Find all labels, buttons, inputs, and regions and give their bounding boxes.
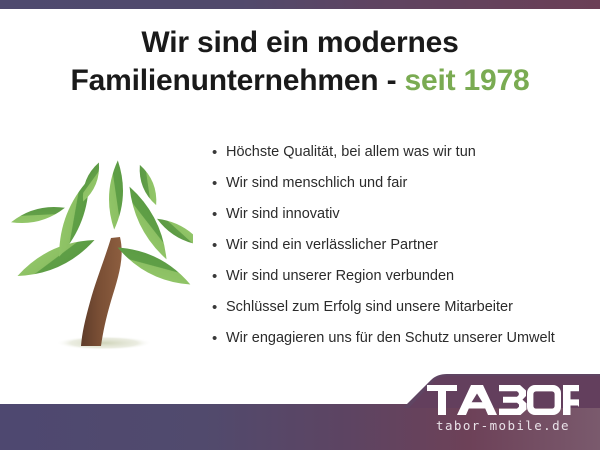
brand-tagline: tabor-mobile.de <box>418 418 588 433</box>
headline-line-2: Familienunternehmen - seit 1978 <box>0 62 600 100</box>
bullet-marker-icon: • <box>212 174 226 193</box>
bullet-marker-icon: • <box>212 205 226 224</box>
footer-bar: tabor-mobile.de <box>0 404 600 450</box>
top-accent-bar <box>0 0 600 9</box>
bullet-marker-icon: • <box>212 236 226 255</box>
headline-line-1: Wir sind ein modernes <box>0 24 600 62</box>
list-item-label: Wir sind ein verlässlicher Partner <box>226 236 438 255</box>
bullet-marker-icon: • <box>212 143 226 162</box>
tree-trunk <box>81 237 122 346</box>
bullet-marker-icon: • <box>212 329 226 348</box>
list-item: • Höchste Qualität, bei allem was wir tu… <box>212 143 592 174</box>
bullet-marker-icon: • <box>212 298 226 317</box>
list-item-label: Wir sind innovativ <box>226 205 340 224</box>
list-item-label: Wir engagieren uns für den Schutz unsere… <box>226 329 555 348</box>
list-item: • Wir sind innovativ <box>212 205 592 236</box>
list-item: • Wir sind menschlich und fair <box>212 174 592 205</box>
tree-illustration <box>8 140 193 365</box>
list-item-label: Schlüssel zum Erfolg sind unsere Mitarbe… <box>226 298 513 317</box>
list-item: • Wir sind unserer Region verbunden <box>212 267 592 298</box>
list-item: • Wir engagieren uns für den Schutz unse… <box>212 329 592 360</box>
page-title: Wir sind ein modernes Familienunternehme… <box>0 24 600 100</box>
list-item: • Wir sind ein verlässlicher Partner <box>212 236 592 267</box>
tree-ground-shadow <box>56 336 152 350</box>
headline-line-2-main: Familienunternehmen - <box>71 64 405 97</box>
list-item-label: Wir sind menschlich und fair <box>226 174 407 193</box>
list-item-label: Wir sind unserer Region verbunden <box>226 267 454 286</box>
bullet-marker-icon: • <box>212 267 226 286</box>
list-item: • Schlüssel zum Erfolg sind unsere Mitar… <box>212 298 592 329</box>
brand-logo[interactable]: tabor-mobile.de <box>418 385 588 433</box>
list-item-label: Höchste Qualität, bei allem was wir tun <box>226 143 476 162</box>
headline-accent-year: seit 1978 <box>405 64 530 97</box>
benefits-list: • Höchste Qualität, bei allem was wir tu… <box>212 143 592 360</box>
slide-canvas: Wir sind ein modernes Familienunternehme… <box>0 0 600 450</box>
tabor-wordmark-icon <box>427 385 579 415</box>
